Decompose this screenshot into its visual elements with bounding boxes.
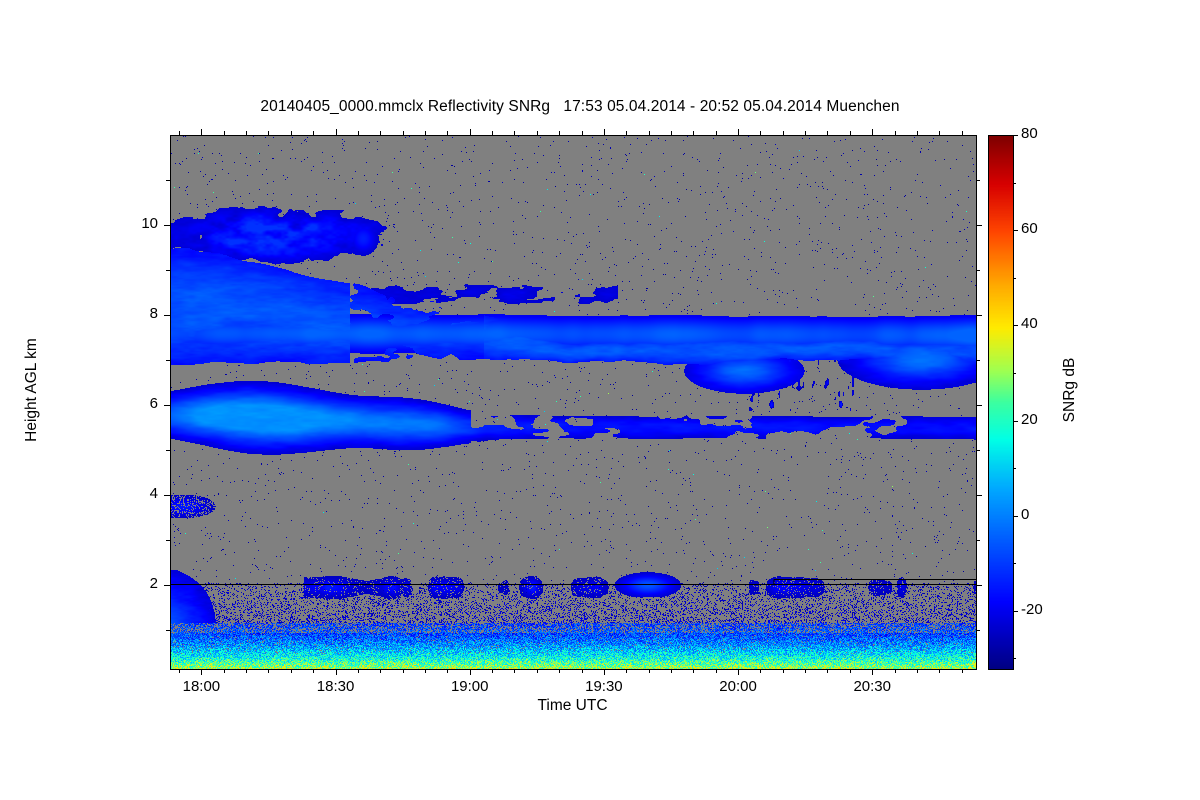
y-tick-label: 8 bbox=[118, 305, 158, 322]
y-tick-major bbox=[976, 585, 982, 586]
y-tick-minor bbox=[976, 270, 980, 271]
x-tick-minor bbox=[492, 131, 493, 135]
x-tick-minor bbox=[850, 669, 851, 673]
x-tick-minor bbox=[224, 669, 225, 673]
x-tick-minor bbox=[313, 669, 314, 673]
x-tick-minor bbox=[403, 669, 404, 673]
x-tick-major bbox=[872, 669, 873, 675]
x-tick-minor bbox=[179, 669, 180, 673]
colorbar-tick-label: 0 bbox=[1021, 506, 1081, 523]
x-tick-minor bbox=[268, 669, 269, 673]
y-tick-minor bbox=[166, 540, 170, 541]
x-tick-minor bbox=[917, 669, 918, 673]
y-tick-major bbox=[976, 225, 982, 226]
y-tick-label: 2 bbox=[118, 575, 158, 592]
y-tick-minor bbox=[976, 450, 980, 451]
y-tick-major bbox=[164, 495, 170, 496]
y-tick-minor bbox=[976, 540, 980, 541]
x-tick-major bbox=[872, 129, 873, 135]
y-tick-minor bbox=[976, 180, 980, 181]
y-tick-minor bbox=[166, 630, 170, 631]
y-tick-minor bbox=[976, 630, 980, 631]
x-tick-minor bbox=[939, 131, 940, 135]
colorbar-tick-minor bbox=[1013, 278, 1016, 279]
y-tick-minor bbox=[166, 270, 170, 271]
x-tick-minor bbox=[358, 669, 359, 673]
y-tick-major bbox=[164, 405, 170, 406]
x-tick-minor bbox=[380, 131, 381, 135]
x-tick-minor bbox=[827, 131, 828, 135]
x-tick-major bbox=[604, 129, 605, 135]
x-tick-minor bbox=[760, 669, 761, 673]
x-tick-minor bbox=[939, 669, 940, 673]
x-tick-minor bbox=[671, 669, 672, 673]
y-tick-label: 4 bbox=[118, 485, 158, 502]
x-tick-major bbox=[201, 669, 202, 675]
x-tick-minor bbox=[291, 669, 292, 673]
x-tick-minor bbox=[358, 131, 359, 135]
x-tick-minor bbox=[224, 131, 225, 135]
x-tick-minor bbox=[559, 669, 560, 673]
plot-area bbox=[170, 135, 977, 670]
x-tick-minor bbox=[895, 669, 896, 673]
x-tick-minor bbox=[268, 131, 269, 135]
x-tick-major bbox=[470, 669, 471, 675]
colorbar-tick-minor bbox=[1013, 563, 1016, 564]
x-tick-label: 19:00 bbox=[430, 678, 510, 695]
x-tick-minor bbox=[582, 669, 583, 673]
x-tick-minor bbox=[380, 669, 381, 673]
x-tick-major bbox=[336, 129, 337, 135]
colorbar-tick-major bbox=[1013, 516, 1018, 517]
x-tick-minor bbox=[246, 131, 247, 135]
x-tick-minor bbox=[962, 669, 963, 673]
x-tick-minor bbox=[537, 131, 538, 135]
reflectivity-heatmap bbox=[171, 136, 976, 669]
figure-title: 20140405_0000.mmclx Reflectivity SNRg 17… bbox=[0, 98, 1160, 116]
x-tick-minor bbox=[537, 669, 538, 673]
colorbar-tick-major bbox=[1013, 421, 1018, 422]
y-axis-title: Height AGL km bbox=[23, 295, 41, 485]
x-tick-minor bbox=[917, 131, 918, 135]
x-tick-minor bbox=[783, 669, 784, 673]
y-tick-minor bbox=[166, 450, 170, 451]
y-tick-major bbox=[976, 495, 982, 496]
x-tick-minor bbox=[693, 131, 694, 135]
x-tick-label: 18:30 bbox=[296, 678, 376, 695]
x-tick-minor bbox=[447, 669, 448, 673]
y-tick-label: 10 bbox=[118, 215, 158, 232]
radar-quicklook-figure: 20140405_0000.mmclx Reflectivity SNRg 17… bbox=[0, 0, 1200, 800]
y-tick-minor bbox=[166, 180, 170, 181]
x-tick-major bbox=[201, 129, 202, 135]
x-tick-minor bbox=[514, 131, 515, 135]
x-tick-major bbox=[738, 129, 739, 135]
x-tick-label: 19:30 bbox=[564, 678, 644, 695]
colorbar-tick-major bbox=[1013, 230, 1018, 231]
y-tick-major bbox=[976, 405, 982, 406]
x-tick-minor bbox=[827, 669, 828, 673]
x-axis-title: Time UTC bbox=[170, 697, 975, 715]
x-tick-minor bbox=[559, 131, 560, 135]
x-tick-minor bbox=[850, 131, 851, 135]
x-tick-major bbox=[336, 669, 337, 675]
x-tick-label: 20:30 bbox=[832, 678, 912, 695]
colorbar-tick-minor bbox=[1013, 658, 1016, 659]
x-tick-minor bbox=[895, 131, 896, 135]
colorbar-tick-minor bbox=[1013, 183, 1016, 184]
x-tick-minor bbox=[783, 131, 784, 135]
colorbar bbox=[988, 135, 1014, 670]
y-tick-major bbox=[164, 585, 170, 586]
colorbar-tick-minor bbox=[1013, 468, 1016, 469]
x-tick-major bbox=[604, 669, 605, 675]
colorbar-tick-label: 80 bbox=[1021, 125, 1081, 142]
x-tick-major bbox=[738, 669, 739, 675]
x-tick-minor bbox=[447, 131, 448, 135]
x-tick-minor bbox=[291, 131, 292, 135]
y-tick-minor bbox=[166, 360, 170, 361]
x-tick-minor bbox=[403, 131, 404, 135]
y-tick-major bbox=[164, 225, 170, 226]
x-tick-minor bbox=[626, 669, 627, 673]
colorbar-tick-label: 60 bbox=[1021, 220, 1081, 237]
x-tick-minor bbox=[179, 131, 180, 135]
x-tick-minor bbox=[313, 131, 314, 135]
x-tick-minor bbox=[626, 131, 627, 135]
y-tick-major bbox=[976, 315, 982, 316]
colorbar-tick-major bbox=[1013, 325, 1018, 326]
x-tick-minor bbox=[425, 669, 426, 673]
x-tick-minor bbox=[962, 131, 963, 135]
colorbar-tick-major bbox=[1013, 135, 1018, 136]
x-tick-label: 20:00 bbox=[698, 678, 778, 695]
x-tick-minor bbox=[805, 131, 806, 135]
colorbar-title: SNRg dB bbox=[1061, 295, 1079, 485]
colorbar-gradient bbox=[989, 136, 1013, 669]
x-tick-minor bbox=[425, 131, 426, 135]
x-tick-minor bbox=[671, 131, 672, 135]
y-tick-minor bbox=[976, 360, 980, 361]
x-tick-minor bbox=[805, 669, 806, 673]
x-tick-minor bbox=[514, 669, 515, 673]
x-tick-minor bbox=[649, 669, 650, 673]
x-tick-minor bbox=[492, 669, 493, 673]
x-tick-label: 18:00 bbox=[161, 678, 241, 695]
y-tick-major bbox=[164, 315, 170, 316]
x-tick-minor bbox=[693, 669, 694, 673]
colorbar-tick-minor bbox=[1013, 373, 1016, 374]
x-tick-major bbox=[470, 129, 471, 135]
colorbar-tick-major bbox=[1013, 611, 1018, 612]
x-tick-minor bbox=[246, 669, 247, 673]
x-tick-minor bbox=[716, 131, 717, 135]
y-tick-label: 6 bbox=[118, 395, 158, 412]
colorbar-tick-label: -20 bbox=[1021, 601, 1081, 618]
x-tick-minor bbox=[760, 131, 761, 135]
x-tick-minor bbox=[582, 131, 583, 135]
x-tick-minor bbox=[716, 669, 717, 673]
x-tick-minor bbox=[649, 131, 650, 135]
